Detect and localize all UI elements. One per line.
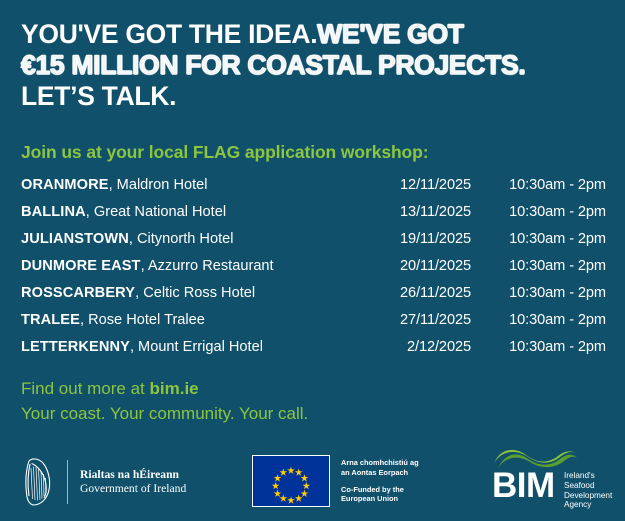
headline-line-3: LET’S TALK.: [21, 81, 611, 112]
workshop-town: ORANMORE: [21, 177, 109, 193]
eu-flag-icon: [252, 455, 330, 507]
workshop-location: LETTERKENNY, Mount Errigal Hotel: [21, 339, 353, 355]
website-link[interactable]: bim.ie: [150, 379, 199, 398]
workshop-time: 10:30am - 2pm: [471, 231, 606, 247]
workshop-time: 10:30am - 2pm: [471, 177, 606, 193]
workshop-time: 10:30am - 2pm: [471, 285, 606, 301]
government-of-ireland-text: Rialtas na hÉireann Government of Irelan…: [80, 468, 186, 497]
eu-english-line-1: Co-Funded by the: [341, 485, 419, 495]
workshop-row: ORANMORE, Maldron Hotel 12/11/2025 10:30…: [21, 177, 606, 204]
workshop-town: TRALEE: [21, 312, 80, 328]
headline-cta-text: LET’S TALK.: [21, 81, 176, 111]
gov-irish-name: Rialtas na hÉireann: [80, 468, 186, 483]
harp-icon: [21, 457, 55, 507]
workshop-list: ORANMORE, Maldron Hotel 12/11/2025 10:30…: [21, 177, 606, 366]
workshop-venue: , Rose Hotel Tralee: [80, 312, 205, 328]
workshop-location: JULIANSTOWN, Citynorth Hotel: [21, 231, 353, 247]
workshop-date: 13/11/2025: [353, 204, 471, 220]
subheading: Join us at your local FLAG application w…: [21, 142, 428, 163]
workshop-row: DUNMORE EAST, Azzurro Restaurant 20/11/2…: [21, 258, 606, 285]
bim-tagline-line-2: Seafood: [564, 481, 612, 491]
find-out-more-prefix: Find out more at: [21, 379, 150, 398]
workshop-location: BALLINA, Great National Hotel: [21, 204, 353, 220]
workshop-date: 27/11/2025: [353, 312, 471, 328]
workshop-location: TRALEE, Rose Hotel Tralee: [21, 312, 353, 328]
workshop-row: BALLINA, Great National Hotel 13/11/2025…: [21, 204, 606, 231]
workshop-venue: , Citynorth Hotel: [129, 231, 234, 247]
logo-strip: Rialtas na hÉireann Government of Irelan…: [0, 443, 625, 521]
workshop-row: TRALEE, Rose Hotel Tralee 27/11/2025 10:…: [21, 312, 606, 339]
workshop-row: JULIANSTOWN, Citynorth Hotel 19/11/2025 …: [21, 231, 606, 258]
workshop-town: JULIANSTOWN: [21, 231, 129, 247]
gov-english-name: Government of Ireland: [80, 482, 186, 497]
headline-outline-part-b: €15 MILLION FOR COASTAL PROJECTS.: [21, 50, 525, 80]
workshop-date: 26/11/2025: [353, 285, 471, 301]
workshop-date: 2/12/2025: [353, 339, 471, 355]
workshop-time: 10:30am - 2pm: [471, 312, 606, 328]
headline-block: YOU'VE GOT THE IDEA.WE'VE GOT €15 MILLIO…: [21, 19, 611, 112]
workshop-time: 10:30am - 2pm: [471, 204, 606, 220]
workshop-date: 20/11/2025: [353, 258, 471, 274]
government-of-ireland-logo: Rialtas na hÉireann Government of Irelan…: [21, 453, 186, 511]
headline-line-2: €15 MILLION FOR COASTAL PROJECTS.: [21, 50, 611, 81]
workshop-venue: , Maldron Hotel: [109, 177, 208, 193]
workshop-town: LETTERKENNY: [21, 339, 130, 355]
workshop-venue: , Azzurro Restaurant: [141, 258, 274, 274]
eu-funding-logo: Arna chomhchistiú ag an Aontas Eorpach C…: [252, 451, 419, 511]
bim-tagline: Ireland's Seafood Development Agency: [564, 471, 612, 510]
eu-irish-line-2: an Aontas Eorpach: [341, 468, 419, 478]
workshop-date: 19/11/2025: [353, 231, 471, 247]
logo-divider: [67, 460, 68, 504]
headline-solid-part: YOU'VE GOT THE IDEA.: [21, 19, 317, 49]
bim-tagline-line-3: Development: [564, 491, 612, 501]
eu-stars: [253, 456, 329, 506]
bim-tagline-line-4: Agency: [564, 500, 612, 510]
workshop-town: BALLINA: [21, 204, 86, 220]
bim-tagline-line-1: Ireland's: [564, 471, 612, 481]
poster-canvas: YOU'VE GOT THE IDEA.WE'VE GOT €15 MILLIO…: [0, 0, 625, 521]
workshop-venue: , Celtic Ross Hotel: [135, 285, 255, 301]
workshop-town: DUNMORE EAST: [21, 258, 141, 274]
workshop-row: ROSSCARBERY, Celtic Ross Hotel 26/11/202…: [21, 285, 606, 312]
headline-outline-part-a: WE'VE GOT: [317, 19, 463, 49]
headline-line-1: YOU'VE GOT THE IDEA.WE'VE GOT: [21, 19, 611, 50]
workshop-location: ORANMORE, Maldron Hotel: [21, 177, 353, 193]
workshop-time: 10:30am - 2pm: [471, 258, 606, 274]
workshop-location: DUNMORE EAST, Azzurro Restaurant: [21, 258, 353, 274]
eu-irish-line-1: Arna chomhchistiú ag: [341, 458, 419, 468]
eu-funding-text: Arna chomhchistiú ag an Aontas Eorpach C…: [341, 458, 419, 503]
workshop-row: LETTERKENNY, Mount Errigal Hotel 2/12/20…: [21, 339, 606, 366]
workshop-time: 10:30am - 2pm: [471, 339, 606, 355]
tagline: Your coast. Your community. Your call.: [21, 404, 308, 424]
eu-text-spacer: [341, 478, 419, 485]
workshop-location: ROSSCARBERY, Celtic Ross Hotel: [21, 285, 353, 301]
workshop-date: 12/11/2025: [353, 177, 471, 193]
bim-logo: BIM Ireland's Seafood Development Agency: [492, 447, 612, 513]
workshop-town: ROSSCARBERY: [21, 285, 135, 301]
find-out-more: Find out more at bim.ie: [21, 379, 199, 399]
workshop-venue: , Great National Hotel: [86, 204, 226, 220]
bim-wordmark: BIM: [492, 467, 555, 505]
workshop-venue: , Mount Errigal Hotel: [130, 339, 263, 355]
eu-english-line-2: European Union: [341, 494, 419, 504]
